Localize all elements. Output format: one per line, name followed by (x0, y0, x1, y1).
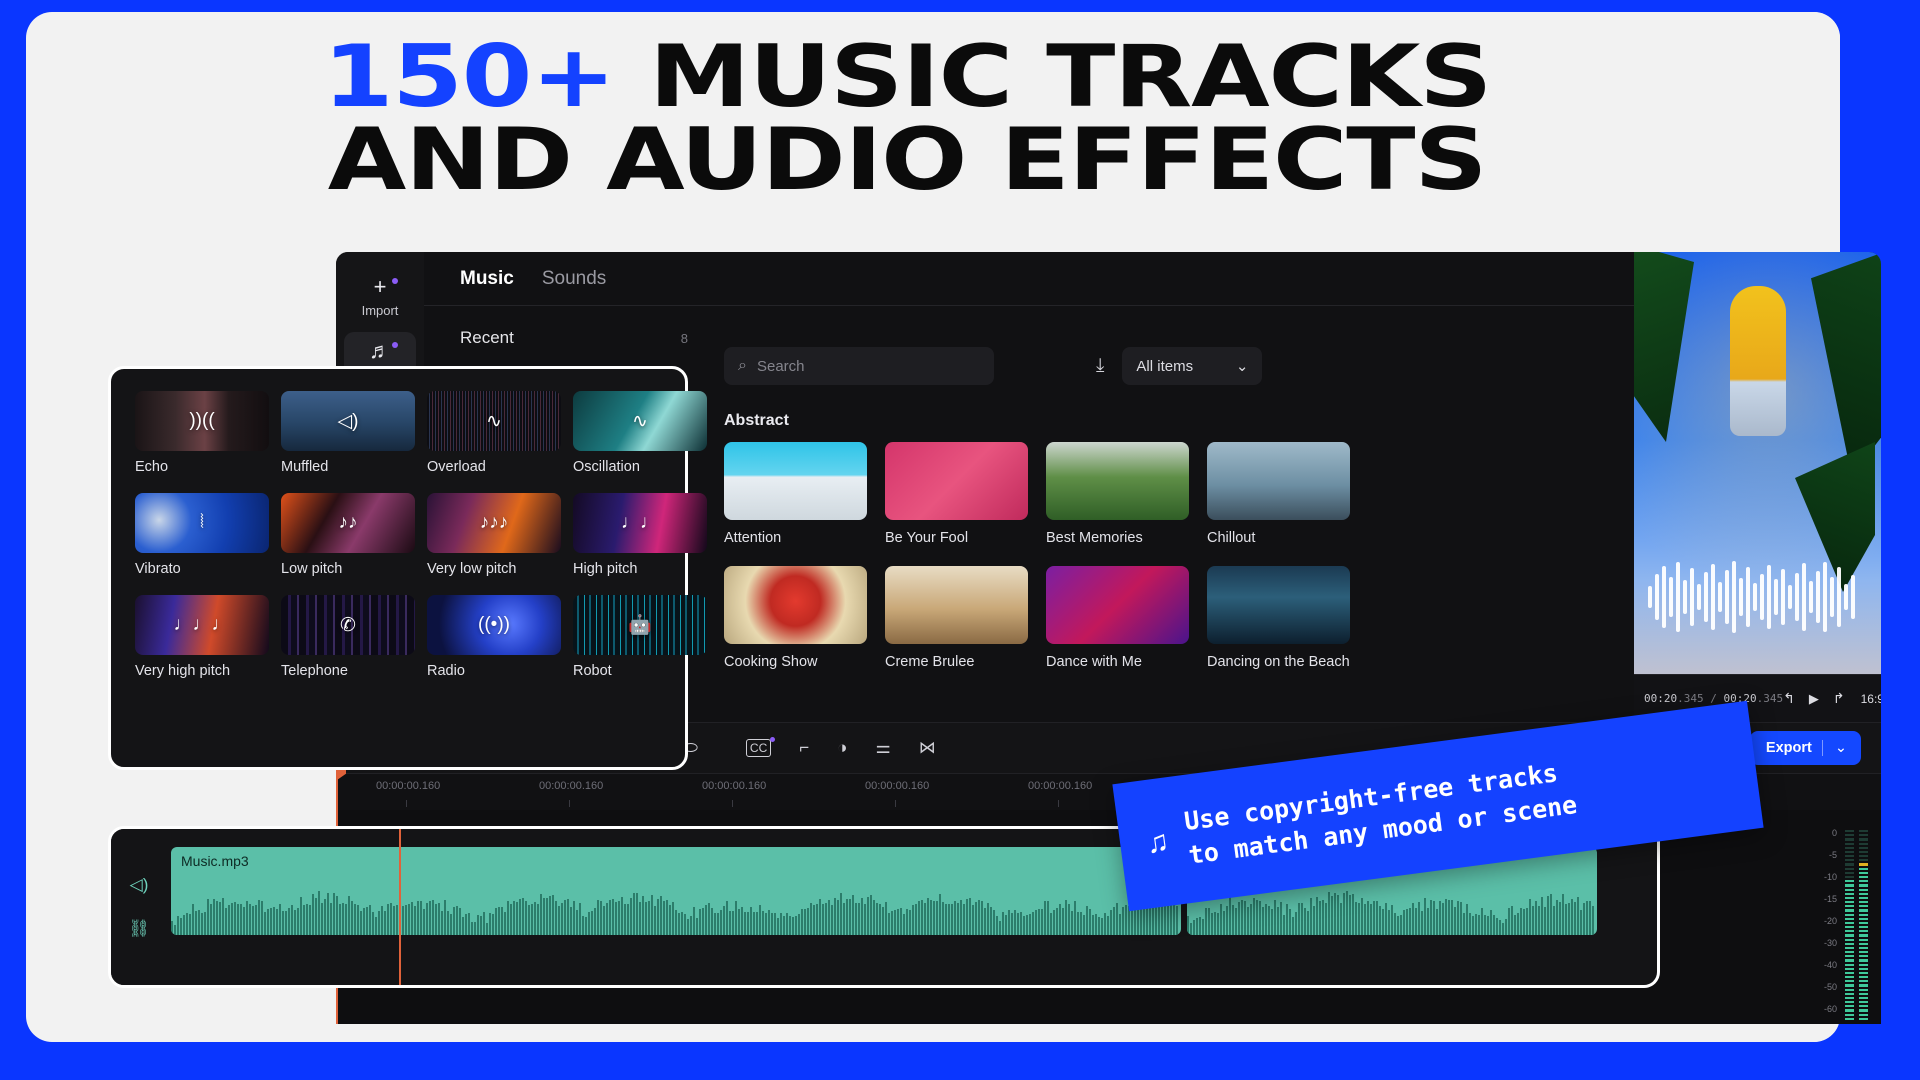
undo-icon[interactable]: ↰ (1783, 690, 1795, 707)
waveform-bar (345, 904, 347, 935)
vu-segment (1859, 939, 1868, 941)
waveform-bar (321, 903, 323, 935)
waveform-bar (753, 912, 755, 935)
waveform-bar (1502, 923, 1504, 935)
waveform-bar (393, 906, 395, 935)
waveform-bar (894, 910, 896, 935)
effect-thumbnail: ))(( (135, 391, 269, 451)
waveform-bar (543, 898, 545, 935)
waveform-bar (1340, 903, 1342, 935)
waveform-bar (1119, 914, 1121, 935)
waveform-bar (519, 899, 521, 935)
waveform-bar (1044, 901, 1046, 935)
effect-card[interactable]: ♪♪♪ Very low pitch (427, 493, 561, 577)
waveform-bar (1259, 901, 1261, 935)
waveform-bar (1421, 911, 1423, 935)
vu-segment (1845, 939, 1854, 941)
waveform-bar (846, 899, 848, 935)
waveform-bar (1122, 907, 1124, 935)
track-card[interactable]: Best Memories (1046, 442, 1189, 547)
two-notes-up-icon: ♩♩ (621, 512, 659, 534)
keyframe-icon[interactable]: ⋈ (919, 738, 936, 758)
vu-segment (1845, 993, 1854, 995)
waveform-bar (1388, 910, 1390, 935)
waveform-bar (561, 903, 563, 935)
waveform-bar (1478, 915, 1480, 935)
vu-segment (1859, 914, 1868, 916)
waveform-bar (183, 915, 185, 935)
effect-card[interactable]: ♩♩ High pitch (573, 493, 707, 577)
waveform-bar (906, 909, 908, 935)
adjust-icon[interactable]: ⚌ (875, 738, 890, 758)
effect-label: Low pitch (281, 561, 415, 577)
waveform-bar (507, 901, 509, 935)
waveform-bar (1409, 908, 1411, 935)
vu-segment (1845, 1005, 1854, 1007)
waveform-bar (522, 898, 524, 935)
waveform-bar (246, 901, 248, 935)
waveform-bar (648, 901, 650, 935)
waveform-bar (366, 907, 368, 935)
waveform-bar (465, 914, 467, 935)
vu-segment (1859, 934, 1868, 936)
waveform-bar (891, 911, 893, 935)
waveform-bar (1532, 906, 1534, 935)
effect-thumbnail: ♩♩♩ (135, 595, 269, 655)
effect-card[interactable]: ))(( Echo (135, 391, 269, 475)
effect-card[interactable]: ∿ Overload (427, 391, 561, 475)
vu-scale-label: -30 (1815, 938, 1837, 948)
waveform-bar (1430, 900, 1432, 935)
waveform-bar (1505, 919, 1507, 935)
waveform-bar (279, 904, 281, 935)
playhead-line[interactable] (399, 826, 401, 988)
waveform-bar (1364, 904, 1366, 935)
waveform-bar (978, 900, 980, 935)
waveform-bar (1253, 898, 1255, 935)
audio-clip[interactable]: Music.mp3 (171, 847, 1181, 935)
volume-icon[interactable]: ◁) (130, 875, 149, 895)
speaker-muted-icon: ◁) (338, 410, 359, 433)
clip-waveform (171, 879, 1181, 935)
waveform-bar (915, 904, 917, 935)
waveform-bar (702, 908, 704, 935)
waveform-bar (921, 900, 923, 935)
waveform-bar (723, 906, 725, 935)
waveform-bar (1508, 908, 1510, 935)
vu-scale-label: -40 (1815, 960, 1837, 970)
vu-segment (1859, 1018, 1868, 1020)
waveform-bar (1442, 903, 1444, 935)
waveform-bar (390, 903, 392, 935)
palm-leaf (1811, 252, 1881, 476)
vu-segment (1845, 914, 1854, 916)
waveform-bar (1544, 907, 1546, 935)
waveform-bar (1346, 891, 1348, 935)
waveform-bar (414, 906, 416, 935)
waveform-bar (1337, 895, 1339, 935)
waveform-bar (666, 900, 668, 935)
waveform-bar (720, 910, 722, 935)
ruler-mark (569, 800, 570, 807)
waveform-bar (249, 904, 251, 935)
waveform-bar (930, 900, 932, 935)
ruler-tick: 00:00:00.160 (539, 780, 603, 792)
waveform-bar (1286, 904, 1288, 935)
waveform-bar (1026, 915, 1028, 935)
link-off-icon[interactable]: ⛓ (128, 919, 150, 939)
vu-segment (1845, 884, 1854, 886)
vu-segment (1859, 838, 1868, 840)
waveform-bar (1514, 915, 1516, 935)
waveform-bar (783, 916, 785, 935)
ruler-mark (895, 800, 896, 807)
vu-segment (1845, 863, 1854, 865)
vu-segment (1859, 868, 1868, 870)
waveform-bar (1379, 906, 1381, 935)
download-icon[interactable]: ⤓ (1096, 355, 1104, 377)
search-input[interactable]: ⌕ Search (724, 347, 994, 385)
aspect-ratio-value[interactable]: 16:9 (1861, 692, 1881, 706)
vu-segment (1845, 905, 1854, 907)
waveform-bar (1493, 915, 1495, 935)
waveform-bar (255, 905, 257, 935)
waveform-bar (429, 901, 431, 935)
vu-segment (1859, 989, 1868, 991)
waveform-bar (1235, 908, 1237, 935)
track-card[interactable]: Chillout (1207, 442, 1350, 547)
waveform-bar (528, 905, 530, 935)
waveform-bar (339, 904, 341, 935)
ruler-tick: 00:00:00.160 (865, 780, 929, 792)
effect-card[interactable]: 🤖 Robot (573, 595, 707, 679)
waveform-bar (1274, 900, 1276, 935)
filter-dropdown[interactable]: All items ⌄ (1122, 347, 1262, 385)
waveform-bar (537, 904, 539, 935)
waveform-bar (924, 903, 926, 935)
vu-segment (1845, 976, 1854, 978)
effect-card[interactable]: ((•)) Radio (427, 595, 561, 679)
search-icon: ⌕ (738, 357, 747, 375)
vu-column-l (1845, 830, 1854, 1020)
redo-icon[interactable]: ↱ (1833, 690, 1845, 707)
vu-segment (1859, 905, 1868, 907)
waveform-bar (603, 906, 605, 935)
export-label: Export (1766, 740, 1812, 756)
waveform-bar (582, 916, 584, 935)
waveform-bar (351, 901, 353, 935)
clip-name: Music.mp3 (181, 853, 249, 869)
waveform-bar (270, 908, 272, 935)
waveform-bar (1053, 910, 1055, 935)
waveform-bar (1439, 901, 1441, 935)
waveform-bar (1050, 913, 1052, 935)
vu-segment (1845, 1001, 1854, 1003)
waveform-bar (534, 902, 536, 935)
tab-music[interactable]: Music (460, 268, 514, 290)
vu-segment (1859, 980, 1868, 982)
tab-sounds[interactable]: Sounds (542, 268, 606, 290)
vu-segment (1845, 909, 1854, 911)
waveform-bar (462, 917, 464, 935)
color-icon[interactable]: ◑ (837, 738, 847, 758)
waveform-bar (1415, 908, 1417, 935)
three-notes-up-icon: ♩♩♩ (174, 614, 231, 636)
vu-segment (1859, 901, 1868, 903)
vu-segment (1859, 984, 1868, 986)
waveform-bar (354, 904, 356, 935)
waveform-bar (240, 904, 242, 935)
waveform-bar (204, 912, 206, 935)
waveform-bar (996, 916, 998, 935)
effect-thumbnail: ◁) (281, 391, 415, 451)
waveform-bar (1020, 912, 1022, 935)
waveform-bar (510, 904, 512, 935)
waveform-bar (831, 905, 833, 935)
waveform-bar (1110, 910, 1112, 935)
vu-segment (1859, 884, 1868, 886)
waveform-bar (1089, 909, 1091, 935)
waveform-bar (1376, 901, 1378, 935)
waveform-bar (1325, 903, 1327, 935)
waveform-bar (999, 921, 1001, 935)
waveform-bar (843, 903, 845, 935)
waveform-bar (1352, 894, 1354, 935)
play-icon[interactable]: ▶ (1809, 691, 1819, 707)
waveform-bar (564, 900, 566, 935)
effect-card[interactable]: ∿ Oscillation (573, 391, 707, 475)
waveform-bar (957, 903, 959, 935)
waveform-bar (876, 903, 878, 935)
ruler-mark (1058, 800, 1059, 807)
waveform-bar (480, 916, 482, 935)
effect-label: Muffled (281, 459, 415, 475)
transform-icon[interactable]: ⌐ (799, 738, 809, 758)
audio-effects-panel: ))(( Echo ◁) Muffled ∿ Overload ∿ Oscill… (108, 366, 688, 770)
waveform-bar (1499, 920, 1501, 935)
waveform-bar (867, 897, 869, 935)
waveform-bar (963, 904, 965, 935)
waveform-bar (420, 901, 422, 935)
waveform-bar (609, 900, 611, 935)
vu-segment (1845, 934, 1854, 936)
effect-card[interactable]: ✆ Telephone (281, 595, 415, 679)
waveform-bar (264, 912, 266, 935)
vu-segment (1859, 847, 1868, 849)
track-card[interactable]: Cooking Show (724, 566, 867, 671)
waveform-bar (870, 895, 872, 935)
effect-card[interactable]: ⦚ Vibrato (135, 493, 269, 577)
waveform-bar (660, 896, 662, 935)
waveform-bar (735, 901, 737, 935)
waveform-bar (600, 901, 602, 935)
export-button[interactable]: Export ⌄ (1750, 731, 1861, 765)
waveform-bar (1583, 903, 1585, 935)
waveform-bar (1250, 904, 1252, 935)
vu-segment (1845, 997, 1854, 999)
waveform-bar (411, 902, 413, 935)
waveform-bar (960, 900, 962, 935)
waveform-bar (1187, 916, 1189, 935)
waveform-bar (1059, 904, 1061, 935)
waveform-bar (615, 902, 617, 935)
vu-segment (1845, 1018, 1854, 1020)
rail-item-import[interactable]: + Import (344, 268, 416, 326)
vu-segment (1845, 964, 1854, 966)
waveform-bar (357, 905, 359, 935)
palm-leaf (1634, 252, 1694, 442)
waveform-bar (618, 901, 620, 935)
track-card[interactable]: Attention (724, 442, 867, 547)
waveform-bar (1065, 900, 1067, 935)
effect-thumbnail: ((•)) (427, 595, 561, 655)
sine-wave-icon: ∿ (632, 410, 648, 433)
waveform-bar (456, 906, 458, 935)
waveform-bar (1460, 902, 1462, 935)
waveform-bar (951, 904, 953, 935)
waveform-bar (765, 913, 767, 935)
vu-segment (1859, 855, 1868, 857)
waveform-bar (990, 907, 992, 935)
effect-label: Echo (135, 459, 269, 475)
waveform-bar (1080, 912, 1082, 935)
effect-label: High pitch (573, 561, 707, 577)
vu-segment (1859, 930, 1868, 932)
waveform-bar (696, 918, 698, 935)
vu-segment (1859, 951, 1868, 953)
waveform-bar (408, 904, 410, 935)
waveform-bar (1262, 907, 1264, 935)
sound-waves-icon: ))(( (189, 410, 214, 432)
waveform-bar (612, 899, 614, 935)
waveform-bar (381, 906, 383, 935)
vu-segment (1845, 968, 1854, 970)
track-card[interactable]: Creme Brulee (885, 566, 1028, 671)
ruler-mark (732, 800, 733, 807)
waveform-bar (975, 902, 977, 935)
waveform-bar (816, 904, 818, 935)
vu-segment (1845, 918, 1854, 920)
effects-grid: ))(( Echo ◁) Muffled ∿ Overload ∿ Oscill… (135, 391, 685, 679)
waveform-bar (1071, 911, 1073, 935)
vu-segment (1845, 926, 1854, 928)
track-card[interactable]: Dancing on the Beach (1207, 566, 1350, 671)
waveform-bar (1077, 912, 1079, 935)
track-controls: ◁) ⛓ (111, 829, 167, 985)
waveform-bar (1098, 917, 1100, 935)
track-card[interactable]: Dance with Me (1046, 566, 1189, 671)
effect-thumbnail: ⦚ (135, 493, 269, 553)
waveform-bar (207, 899, 209, 935)
track-label: Chillout (1207, 529, 1350, 547)
waveform-bar (1592, 906, 1594, 935)
waveform-bar (1403, 910, 1405, 935)
waveform-bar (1241, 900, 1243, 935)
waveform-bar (216, 901, 218, 935)
effect-label: Overload (427, 459, 561, 475)
waveform-bar (981, 901, 983, 935)
waveform-bar (558, 906, 560, 935)
waveform-bar (1196, 918, 1198, 935)
waveform-bar (576, 910, 578, 935)
waveform-bar (324, 899, 326, 935)
waveform-bar (918, 901, 920, 935)
waveform-bar (1589, 901, 1591, 936)
effect-label: Radio (427, 663, 561, 679)
waveform-bar (1472, 916, 1474, 935)
waveform-bar (681, 912, 683, 935)
caption-icon[interactable]: CC (746, 739, 771, 757)
vu-segment (1859, 876, 1868, 878)
waveform-bar (174, 925, 176, 935)
track-thumbnail (1207, 566, 1350, 644)
waveform-bar (198, 910, 200, 935)
waveform-bar (234, 902, 236, 935)
waveform-bar (726, 901, 728, 935)
waveform-bar (1280, 902, 1282, 935)
effect-thumbnail: ∿ (573, 391, 707, 451)
phone-ring-icon: ✆ (340, 614, 356, 637)
track-label: Attention (724, 529, 867, 547)
waveform-bar (363, 908, 365, 935)
waveform-bar (312, 894, 314, 935)
waveform-bar (471, 922, 473, 935)
vu-segment (1859, 880, 1868, 882)
waveform-bar (942, 902, 944, 935)
vu-segment (1859, 964, 1868, 966)
track-thumbnail (1207, 442, 1350, 520)
robot-icon: 🤖 (628, 613, 652, 637)
vu-segment (1845, 893, 1854, 895)
waveform-bar (825, 903, 827, 935)
waveform-bar (1319, 901, 1321, 935)
waveform-bar (1208, 908, 1210, 935)
filter-label: All items (1136, 358, 1193, 375)
waveform-bar (306, 904, 308, 935)
waveform-bar (384, 911, 386, 935)
waveform-bar (1427, 908, 1429, 935)
effect-card[interactable]: ♪♪ Low pitch (281, 493, 415, 577)
waveform-bar (1466, 904, 1468, 935)
waveform-bar (798, 914, 800, 935)
waveform-bar (864, 904, 866, 935)
waveform-bar (1334, 893, 1336, 935)
vu-scale-label: -50 (1815, 982, 1837, 992)
waveform-bar (711, 908, 713, 935)
waveform-bar (1541, 897, 1543, 935)
waveform-bar (378, 911, 380, 935)
track-thumbnail (885, 442, 1028, 520)
vu-segment (1859, 993, 1868, 995)
waveform-bar (1199, 917, 1201, 935)
effect-card[interactable]: ♩♩♩ Very high pitch (135, 595, 269, 679)
waveform-bar (477, 915, 479, 935)
waveform-bar (222, 898, 224, 935)
waveform-bar (1125, 905, 1127, 935)
import-badge-dot (392, 278, 398, 284)
vu-segment (1845, 889, 1854, 891)
waveform-bar (1256, 900, 1258, 935)
vu-segment (1845, 984, 1854, 986)
track-card[interactable]: Be Your Fool (885, 442, 1028, 547)
effect-card[interactable]: ◁) Muffled (281, 391, 415, 475)
waveform-bar (372, 912, 374, 935)
waveform-bar (834, 898, 836, 935)
waveform-bar (768, 910, 770, 935)
export-caret-icon[interactable]: ⌄ (1833, 740, 1859, 756)
waveform-bar (636, 893, 638, 935)
waveform-bar (1355, 902, 1357, 935)
